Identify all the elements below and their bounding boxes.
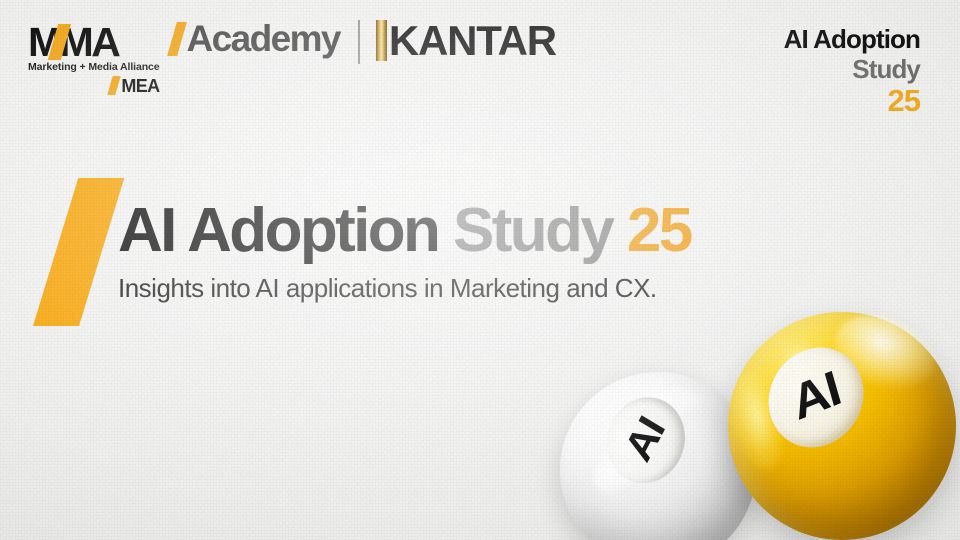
corner-title-year: 25: [784, 84, 920, 118]
hero-block: AI Adoption Study 25 Insights into AI ap…: [118, 196, 691, 304]
hero-title-part1: AI Adoption: [118, 196, 453, 265]
yellow-ai-ball: AI: [728, 312, 956, 540]
kantar-logo[interactable]: KANTAR: [376, 20, 556, 61]
hero-title-part2: Study: [453, 196, 627, 265]
kantar-label: KANTAR: [389, 20, 556, 61]
mea-slash-icon: [108, 76, 121, 95]
logo-divider: [358, 20, 360, 64]
corner-title-line2: Study: [784, 54, 920, 84]
logo-lockup: MMA Marketing + Media Alliance MEA Acade…: [28, 22, 556, 95]
hero-title-year: 25: [627, 196, 691, 265]
mma-logo[interactable]: MMA Marketing + Media Alliance MEA: [28, 22, 160, 95]
mma-mea-row: MEA: [110, 76, 159, 95]
kantar-gold-bar-icon: [376, 20, 387, 61]
page-subtitle: Insights into AI applications in Marketi…: [118, 272, 691, 304]
corner-title-line1: AI Adoption: [784, 24, 920, 54]
white-ball-ai-label: AI: [617, 410, 675, 469]
mma-wordmark-row: MMA: [28, 22, 118, 62]
mma-region-label: MEA: [121, 77, 159, 95]
mma-wordmark: MMA: [28, 22, 118, 62]
academy-label: Academy: [187, 21, 340, 57]
academy-logo[interactable]: Academy: [172, 21, 340, 57]
page-title: AI Adoption Study 25: [118, 196, 691, 266]
academy-slash-icon: [167, 22, 187, 56]
white-ai-ball: AI: [560, 372, 756, 540]
yellow-ball-ai-label: AI: [786, 361, 846, 433]
slide-canvas: MMA Marketing + Media Alliance MEA Acade…: [0, 0, 960, 540]
corner-title-block: AI Adoption Study 25: [784, 24, 920, 118]
hero-slash-accent-icon: [33, 178, 124, 326]
